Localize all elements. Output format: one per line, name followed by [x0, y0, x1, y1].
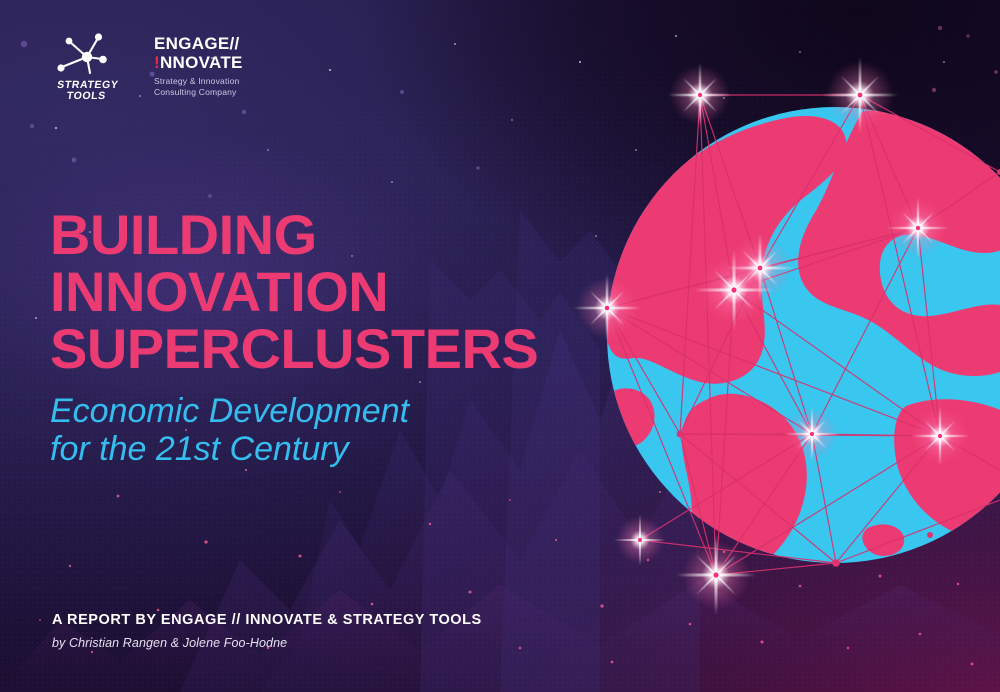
network-node-dot: [677, 431, 684, 438]
strategy-tools-wordmark: STRATEGY TOOLS: [46, 80, 127, 102]
engage-innovate-line2: !NNOVATE: [154, 53, 243, 72]
header-logos: STRATEGY TOOLS ENGAGE// !NNOVATE Strateg…: [48, 26, 243, 102]
network-node-dot: [927, 532, 933, 538]
network-nodes-icon: [48, 26, 126, 78]
engage-innovate-tagline: Strategy & Innovation Consulting Company: [154, 76, 243, 98]
engage-innovate-tagline-line2: Consulting Company: [154, 87, 243, 98]
engage-innovate-line1: ENGAGE//: [154, 34, 243, 53]
subtitle-line-2: for the 21st Century: [50, 430, 409, 468]
footer-authors-line: by Christian Rangen & Jolene Foo-Hodne: [52, 636, 482, 650]
engage-innovate-tagline-line1: Strategy & Innovation: [154, 76, 243, 87]
title-line-2: INNOVATION: [50, 263, 538, 320]
page-subtitle: Economic Development for the 21st Centur…: [50, 392, 409, 468]
title-line-3: SUPERCLUSTERS: [50, 320, 538, 377]
cover-footer: A REPORT BY ENGAGE // INNOVATE & STRATEG…: [52, 612, 482, 650]
subtitle-line-1: Economic Development: [50, 392, 409, 430]
network-node-dot: [832, 559, 840, 567]
engage-innovate-logo[interactable]: ENGAGE// !NNOVATE Strategy & Innovation …: [154, 26, 243, 98]
strategy-tools-logo[interactable]: STRATEGY TOOLS: [48, 26, 126, 102]
strategy-tools-line2: TOOLS: [46, 91, 126, 102]
footer-report-line: A REPORT BY ENGAGE // INNOVATE & STRATEG…: [52, 612, 482, 628]
page-title: BUILDING INNOVATION SUPERCLUSTERS: [50, 206, 538, 377]
title-line-1: BUILDING: [50, 206, 538, 263]
report-cover-page: STRATEGY TOOLS ENGAGE// !NNOVATE Strateg…: [0, 0, 1000, 692]
engage-innovate-line2-rest: NNOVATE: [160, 53, 243, 72]
